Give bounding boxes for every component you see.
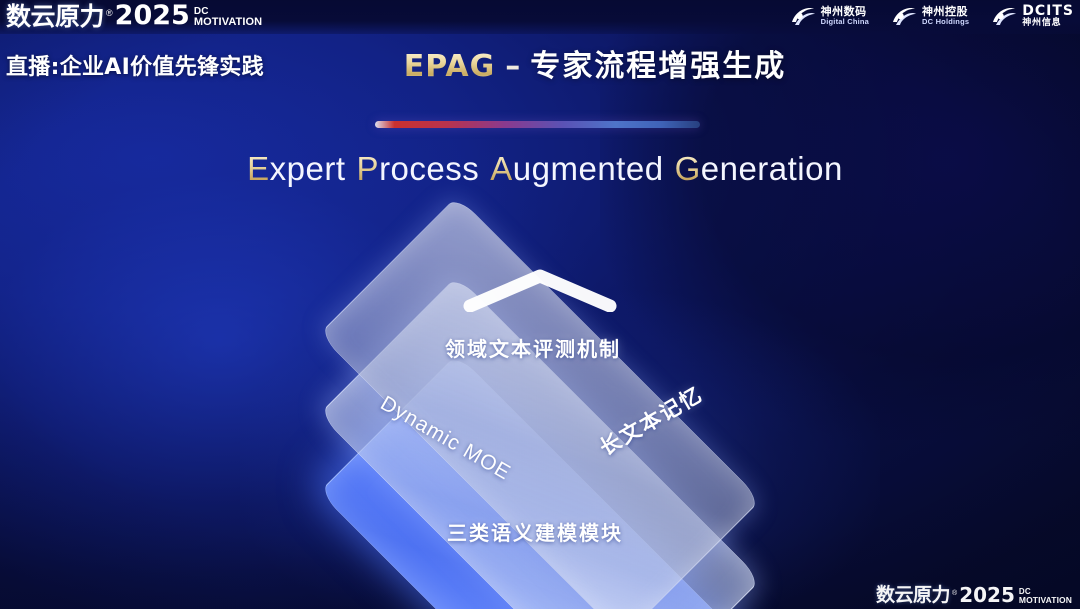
brand-year: 2025	[115, 2, 190, 29]
watermark-year: 2025	[959, 585, 1015, 605]
brand-logo: 数云原力 ® 2025 DC MOTIVATION	[6, 2, 262, 29]
subtitle-cap: E	[247, 150, 270, 187]
partner-name-en: 神州信息	[1022, 19, 1074, 28]
brand-motivation-label: MOTIVATION	[194, 17, 262, 28]
partner-name-cn: DCITS	[1022, 4, 1074, 19]
partner-logo-row: 神州数码 Digital China 神州控股 DC Holdings	[790, 4, 1074, 28]
slide-subtitle: ExpertProcessAugmentedGeneration	[0, 152, 1080, 185]
partner-name-en: DC Holdings	[922, 18, 969, 26]
swoosh-icon	[891, 5, 917, 27]
subtitle-word-generation: Generation	[675, 152, 843, 185]
watermark-dc-motivation: DC MOTIVATION	[1019, 588, 1072, 605]
partner-logo-digital-china: 神州数码 Digital China	[790, 5, 869, 27]
brand-name-cn: 数云原力	[6, 4, 104, 29]
headline-chinese: 专家流程增强生成	[530, 49, 786, 84]
subtitle-cap: A	[490, 150, 513, 187]
subtitle-rest: eneration	[701, 150, 843, 187]
partner-text: DCITS 神州信息	[1022, 4, 1074, 28]
chevron-up-icon	[460, 268, 620, 312]
headline-acronym: EPAG	[404, 49, 496, 84]
subtitle-word-process: Process	[357, 152, 480, 185]
headline-dash: –	[505, 49, 520, 84]
partner-name-en: Digital China	[821, 18, 869, 26]
swoosh-icon	[991, 5, 1017, 27]
subtitle-rest: xpert	[270, 150, 346, 187]
layer-label-top: 领域文本评测机制	[445, 333, 621, 362]
subtitle-cap: G	[675, 150, 701, 187]
subtitle-word-augmented: Augmented	[490, 152, 663, 185]
partner-logo-dc-holdings: 神州控股 DC Holdings	[891, 5, 969, 27]
partner-text: 神州控股 DC Holdings	[922, 6, 969, 25]
slide-canvas: 数云原力 ® 2025 DC MOTIVATION 直播:企业AI价值先锋实践 …	[0, 0, 1080, 609]
swoosh-icon	[790, 5, 816, 27]
layer-label-bottom: 三类语义建模模块	[447, 517, 623, 546]
partner-text: 神州数码 Digital China	[821, 6, 869, 25]
brand-dc-motivation: DC MOTIVATION	[194, 7, 262, 28]
subtitle-word-expert: Expert	[247, 152, 345, 185]
partner-logo-dcits: DCITS 神州信息	[991, 4, 1074, 28]
subtitle-cap: P	[357, 150, 380, 187]
subtitle-rest: ugmented	[513, 150, 664, 187]
live-session-title: 直播:企业AI价值先锋实践	[6, 49, 264, 81]
watermark-motivation-label: MOTIVATION	[1019, 596, 1072, 605]
watermark-logo: 数云原力 ® 2025 DC MOTIVATION	[876, 585, 1072, 605]
layer-stack-diagram: 领域文本评测机制 Dynamic MOE 长文本记忆 三类语义建模模块	[290, 228, 790, 580]
brand-registered-mark: ®	[106, 9, 113, 18]
watermark-registered-mark: ®	[952, 590, 957, 597]
watermark-name-cn: 数云原力	[876, 586, 950, 605]
subtitle-rest: rocess	[379, 150, 479, 187]
gradient-divider	[375, 121, 700, 128]
